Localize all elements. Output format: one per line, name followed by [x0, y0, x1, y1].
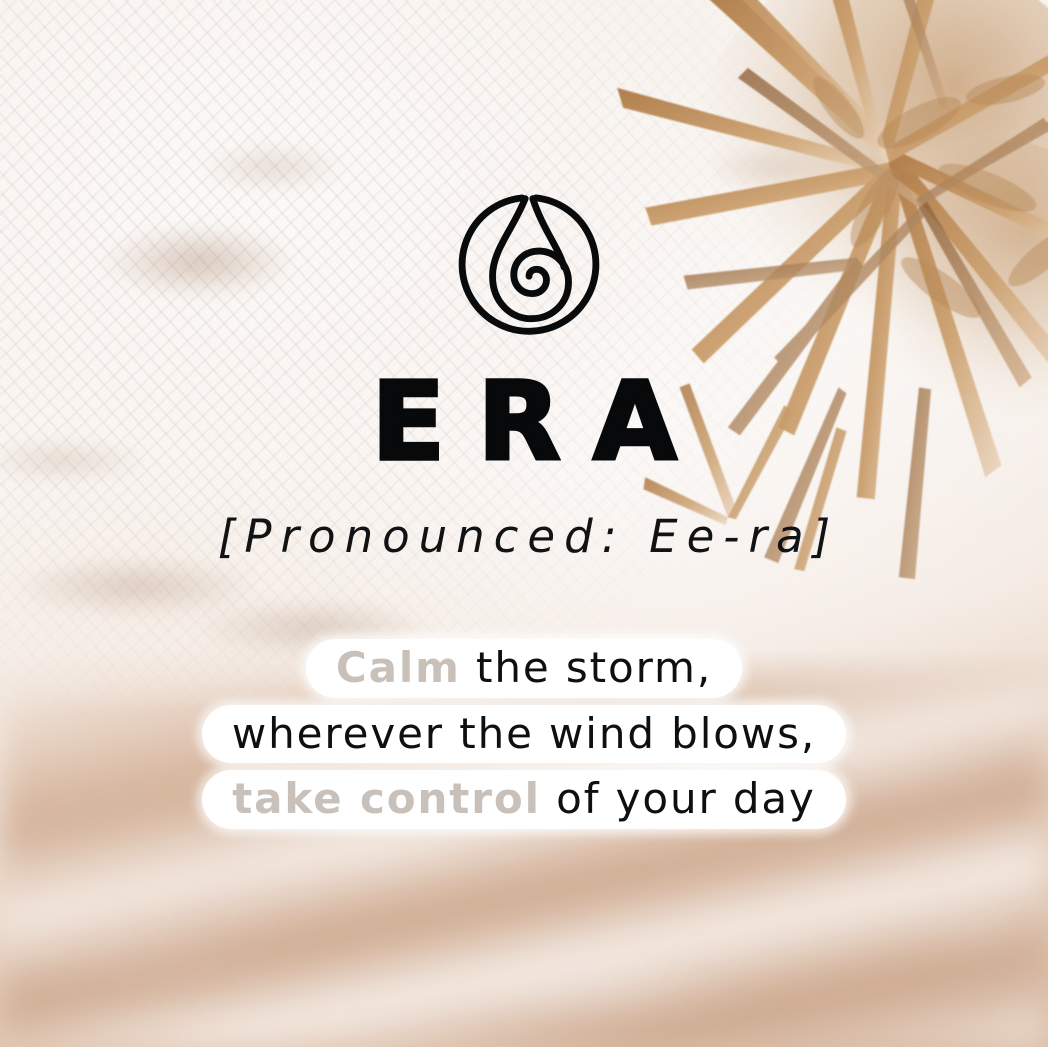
tagline-line-3: take control of your day [202, 770, 846, 829]
tagline-block: Calm the storm, wherever the wind blows,… [0, 639, 1048, 829]
tagline-line-1: Calm the storm, [306, 639, 742, 698]
brand-card: ERA [Pronounced: Ee-ra] Calm the storm, … [0, 0, 1048, 1047]
tagline-rest-2: wherever the wind blows, [232, 709, 816, 758]
tagline-accent-1: Calm [336, 643, 461, 692]
tagline-accent-3: take control [232, 774, 541, 823]
brand-content: ERA [Pronounced: Ee-ra] Calm the storm, … [0, 0, 1048, 1047]
page-title: ERA [0, 369, 1048, 477]
pronunciation-text: [Pronounced: Ee-ra] [0, 512, 1048, 562]
tagline-line-2: wherever the wind blows, [202, 705, 846, 764]
tagline-rest-1: the storm, [461, 643, 712, 692]
teardrop-spiral-circle-icon [453, 188, 605, 340]
tagline-rest-3: of your day [541, 774, 816, 823]
